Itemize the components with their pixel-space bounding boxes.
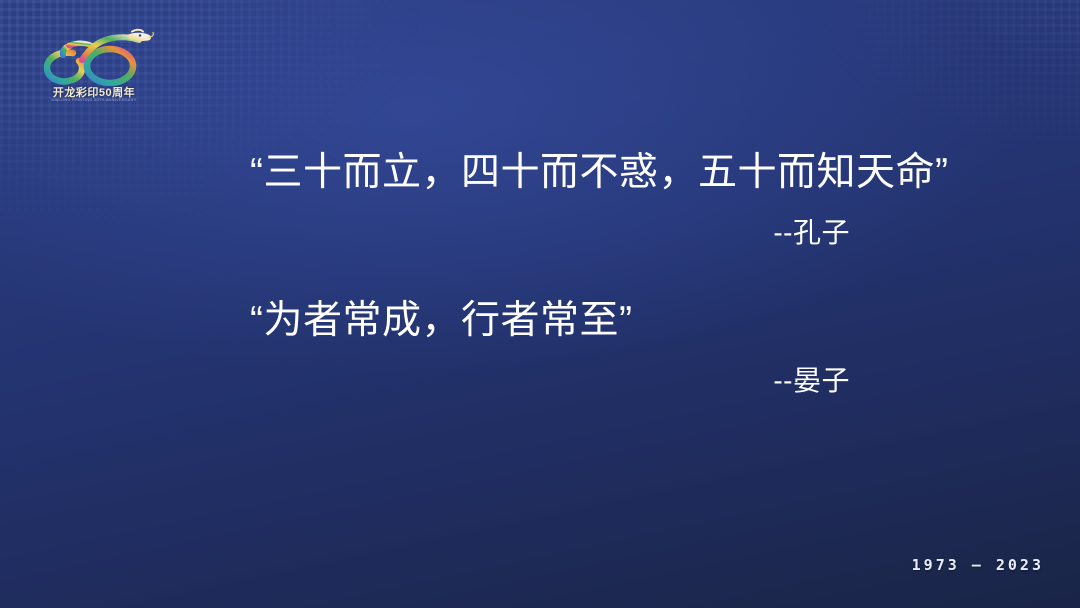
quote-content: “三十而立，四十而不惑，五十而知天命” --孔子 “为者常成，行者常至” --晏…: [250, 150, 850, 397]
slide-canvas: 开龙彩印50周年 KAILONG PRINTING 50TH ANNIVERSA…: [0, 0, 1080, 608]
quote-text-2: “为者常成，行者常至”: [250, 298, 850, 344]
anniversary-years: 1973 — 2023: [912, 556, 1044, 574]
quote-attribution-2: --晏子: [250, 364, 850, 398]
anniversary-logo: 开龙彩印50周年 KAILONG PRINTING 50TH ANNIVERSA…: [34, 22, 154, 108]
dot-grid-pattern-right: [820, 0, 1080, 150]
quote-block-1: “三十而立，四十而不惑，五十而知天命” --孔子: [250, 150, 850, 250]
logo-subcaption: KAILONG PRINTING 50TH ANNIVERSARY: [38, 97, 150, 102]
dragon-50-icon: [34, 22, 154, 86]
quote-text-1: “三十而立，四十而不惑，五十而知天命”: [250, 150, 850, 196]
quote-block-2: “为者常成，行者常至” --晏子: [250, 298, 850, 398]
quote-spacer: [250, 250, 850, 298]
quote-attribution-1: --孔子: [250, 216, 850, 250]
